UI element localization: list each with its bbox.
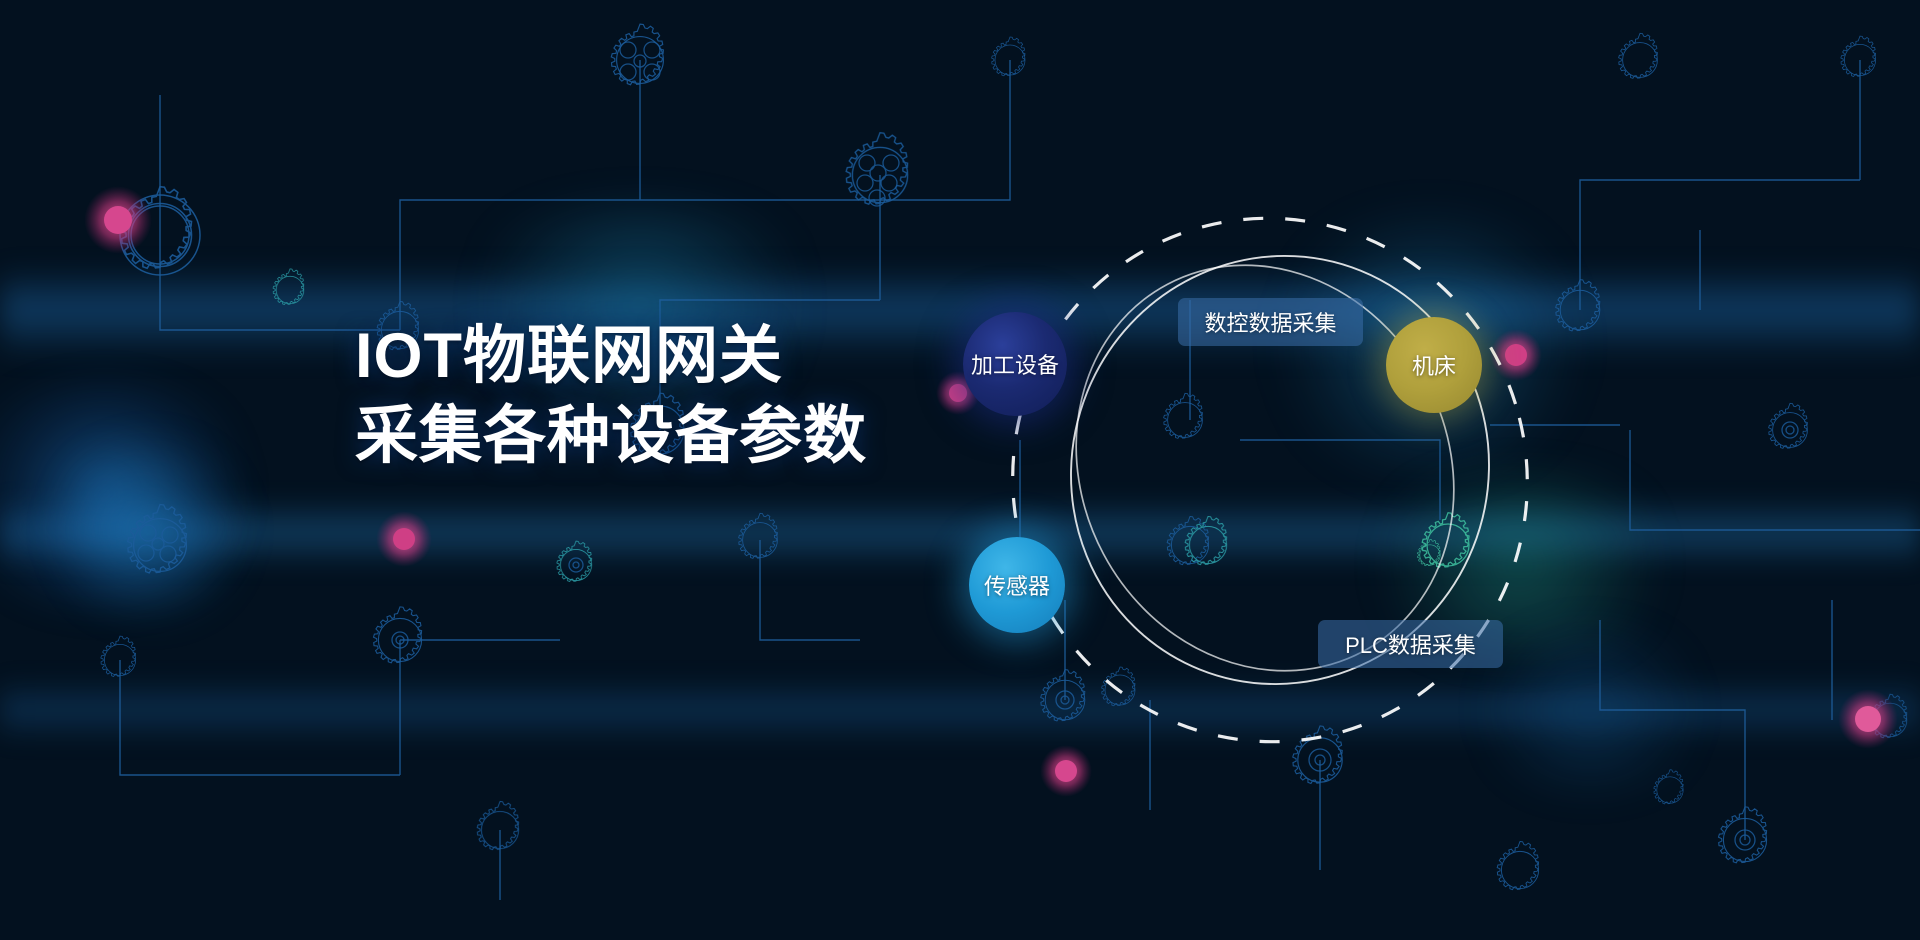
orbit-rings [0,0,1920,940]
node-machine-tool[interactable]: 机床 [1386,317,1482,413]
title-line-2: 采集各种设备参数 [355,396,867,476]
node-processing-equipment[interactable]: 加工设备 [963,312,1067,416]
chip-label: 数控数据采集 [1204,306,1336,338]
node-label: 传感器 [984,569,1050,601]
light-band-middle [0,498,1920,568]
glow-left [0,380,270,610]
chip-label: PLC数据采集 [1345,628,1476,660]
node-sensor[interactable]: 传感器 [969,537,1065,633]
page-title: IOT物联网网关 采集各种设备参数 [355,316,867,476]
light-band-bottom [0,680,1920,740]
node-label: 机床 [1412,349,1456,381]
outer-dashed-ring [957,164,1582,797]
chip-cnc-data-collection[interactable]: 数控数据采集 [1178,298,1363,346]
accent-dots [84,186,1898,797]
iot-gateway-banner: IOT物联网网关 采集各种设备参数 加工设备 机床 传感器 数控数据采集 PLC… [0,0,1920,940]
glow-left-cyan [40,440,260,620]
title-line-1: IOT物联网网关 [355,316,867,396]
node-label: 加工设备 [971,348,1059,380]
light-band-top [0,268,1920,358]
chip-plc-data-collection[interactable]: PLC数据采集 [1318,620,1503,668]
circuit-gear-background [0,0,1920,940]
